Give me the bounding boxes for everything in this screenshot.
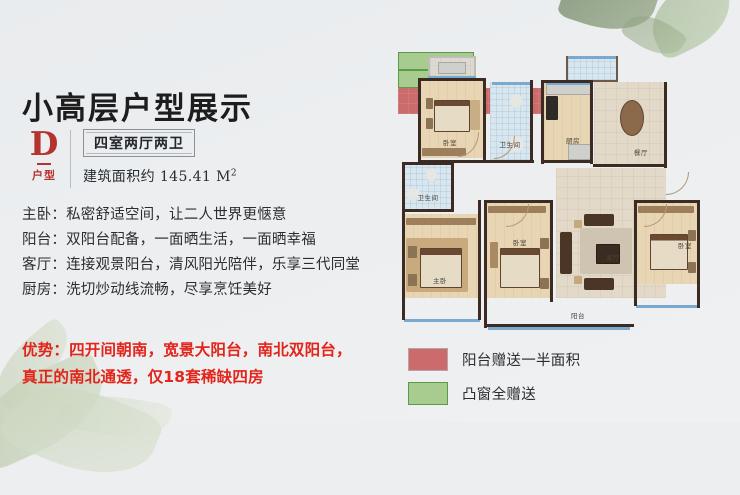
wall	[402, 212, 405, 320]
wall	[541, 80, 593, 83]
unit-type-block: D 户型 四室两厅两卫 建筑面积约 145.41 M2	[22, 128, 237, 188]
slide-background: 小高层户型展示 D 户型 四室两厅两卫 建筑面积约 145.41 M2 主卧：私…	[0, 0, 740, 422]
feature-item: 阳台：双阳台配备，一面晒生活，一面晒幸福	[22, 228, 360, 253]
room-label: 卧室	[443, 137, 457, 147]
legend-swatch-bay-window	[408, 382, 448, 405]
room-label: 客厅	[606, 252, 620, 262]
nightstand-furniture	[540, 278, 549, 289]
advantage-block: 优势：四开间朝南，宽景大阳台，南北双阳台， 真正的南北通透，仅18套稀缺四房	[22, 337, 352, 391]
room-config-box: 四室两厅两卫	[83, 129, 195, 157]
wall	[541, 80, 544, 164]
bed-furniture	[434, 100, 470, 132]
window	[636, 305, 698, 308]
unit-letter: D	[22, 128, 66, 160]
toilet-fixture	[426, 168, 437, 181]
window	[492, 82, 530, 85]
wardrobe-furniture	[470, 100, 480, 130]
room-label: 阳台	[571, 310, 585, 320]
wall	[634, 200, 637, 306]
room-label: 卧室	[513, 237, 527, 247]
room-label: 餐厅	[634, 147, 648, 157]
room-label: 厨房	[566, 135, 580, 145]
advantage-line: 优势：四开间朝南，宽景大阳台，南北双阳台，	[22, 337, 352, 364]
wall	[418, 78, 421, 160]
toilet-fixture	[510, 94, 522, 108]
side-table-furniture	[574, 276, 582, 284]
dresser-furniture	[490, 242, 498, 268]
unit-letter-sublabel: 户型	[22, 167, 66, 183]
window	[404, 319, 480, 322]
north-balcony	[566, 56, 618, 82]
window	[488, 327, 630, 330]
window	[568, 56, 616, 59]
bed-furniture	[500, 248, 540, 288]
nightstand-furniture	[540, 238, 549, 249]
text-column: 小高层户型展示 D 户型 四室两厅两卫 建筑面积约 145.41 M2 主卧：私…	[0, 0, 410, 422]
wall	[590, 80, 593, 164]
wardrobe-furniture	[406, 218, 476, 225]
legend-label: 阳台赠送一半面积	[462, 349, 580, 370]
room-label: 卫生间	[418, 192, 439, 202]
legend-item: 阳台赠送一半面积	[408, 346, 580, 372]
stove-appliance	[546, 96, 558, 120]
wall	[484, 324, 634, 327]
room-label: 卧室	[678, 240, 692, 250]
wall	[478, 200, 481, 320]
wall	[634, 200, 700, 203]
wall	[402, 209, 454, 212]
wall	[484, 200, 487, 328]
feature-item: 主卧：私密舒适空间，让二人世界更惬意	[22, 203, 360, 228]
divider-dash	[37, 163, 51, 165]
legend-label: 凸窗全赠送	[462, 383, 536, 404]
floor-plan: 卧室 卫生间 厨房 餐厅 卫生间 主卧 卧室 客厅 卧室 阳台	[398, 52, 740, 352]
side-table-furniture	[574, 220, 582, 228]
nightstand-furniture	[408, 274, 417, 286]
wall	[550, 200, 553, 302]
nightstand-furniture	[688, 262, 696, 273]
armchair-furniture	[584, 214, 614, 226]
wall	[451, 162, 454, 212]
refrigerator-appliance	[568, 144, 592, 160]
vertical-divider	[70, 130, 71, 188]
wall	[483, 78, 486, 162]
unit-detail-group: 四室两厅两卫 建筑面积约 145.41 M2	[83, 128, 237, 186]
feature-list: 主卧：私密舒适空间，让二人世界更惬意 阳台：双阳台配备，一面晒生活，一面晒幸福 …	[22, 203, 360, 303]
advantage-line: 真正的南北通透，仅18套稀缺四房	[22, 364, 352, 391]
unit-letter-group: D 户型	[22, 128, 66, 183]
wall	[484, 200, 552, 203]
area-superscript: 2	[231, 168, 237, 178]
armchair-furniture	[584, 278, 614, 290]
legend-item: 凸窗全赠送	[408, 380, 580, 406]
room-label: 卫生间	[500, 139, 521, 149]
legend-swatch-balcony	[408, 348, 448, 371]
wall	[530, 80, 533, 162]
wall	[402, 162, 405, 212]
feature-item: 客厅：连接观景阳台，清风阳光陪伴，乐享三代同堂	[22, 253, 360, 278]
area-label: 建筑面积约 145.41 M2	[83, 166, 237, 186]
wall	[541, 160, 593, 163]
counter-cabinet	[546, 84, 592, 95]
feature-item: 厨房：洗切炒动线流畅，尽享烹饪美好	[22, 278, 360, 303]
sofa-furniture	[560, 232, 572, 274]
dining-table-furniture	[620, 100, 644, 136]
wall	[664, 82, 667, 168]
area-text: 建筑面积约 145.41 M	[83, 169, 231, 185]
door-swing	[666, 172, 689, 195]
wall	[402, 162, 454, 165]
room-config-label: 四室两厅两卫	[94, 136, 184, 152]
wall	[593, 164, 667, 167]
wall	[418, 78, 486, 81]
washer-appliance	[438, 62, 466, 74]
wall	[697, 200, 700, 308]
room-label: 主卧	[433, 275, 447, 285]
nightstand-furniture	[426, 118, 433, 129]
nightstand-furniture	[426, 98, 433, 109]
page-title: 小高层户型展示	[22, 83, 253, 128]
legend: 阳台赠送一半面积 凸窗全赠送	[408, 346, 580, 414]
nightstand-furniture	[408, 246, 417, 258]
